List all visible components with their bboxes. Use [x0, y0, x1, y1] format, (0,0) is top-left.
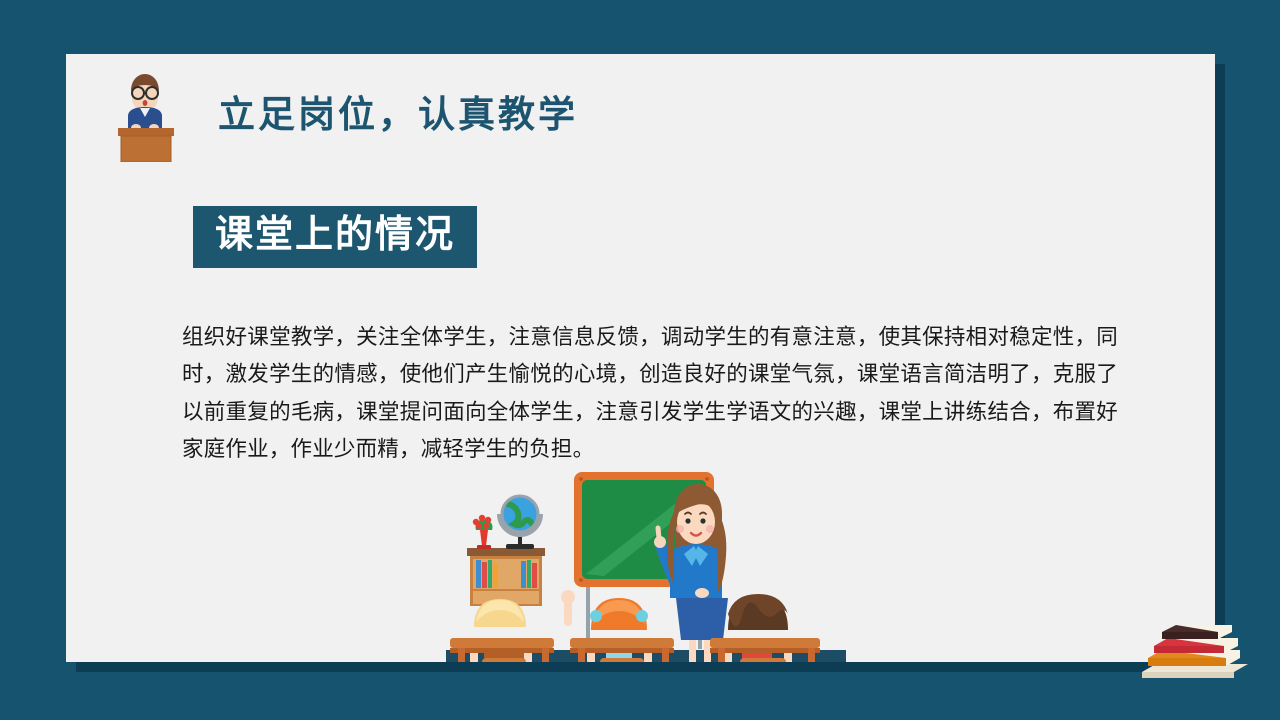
slide-header: 立足岗位，认真教学 — [106, 59, 578, 169]
page-title: 立足岗位，认真教学 — [218, 96, 578, 133]
slide-card: 立足岗位，认真教学 课堂上的情况 组织好课堂教学，关注全体学生，注意信息反馈，调… — [66, 54, 1215, 662]
classroom-scene-illustration — [446, 452, 846, 662]
body-paragraph: 组织好课堂教学，关注全体学生，注意信息反馈，调动学生的有意注意，使其保持相对稳定… — [182, 319, 1118, 470]
teacher-at-podium-icon — [106, 66, 184, 162]
section-badge: 课堂上的情况 — [193, 206, 477, 268]
book-stack-icon — [1140, 622, 1258, 688]
